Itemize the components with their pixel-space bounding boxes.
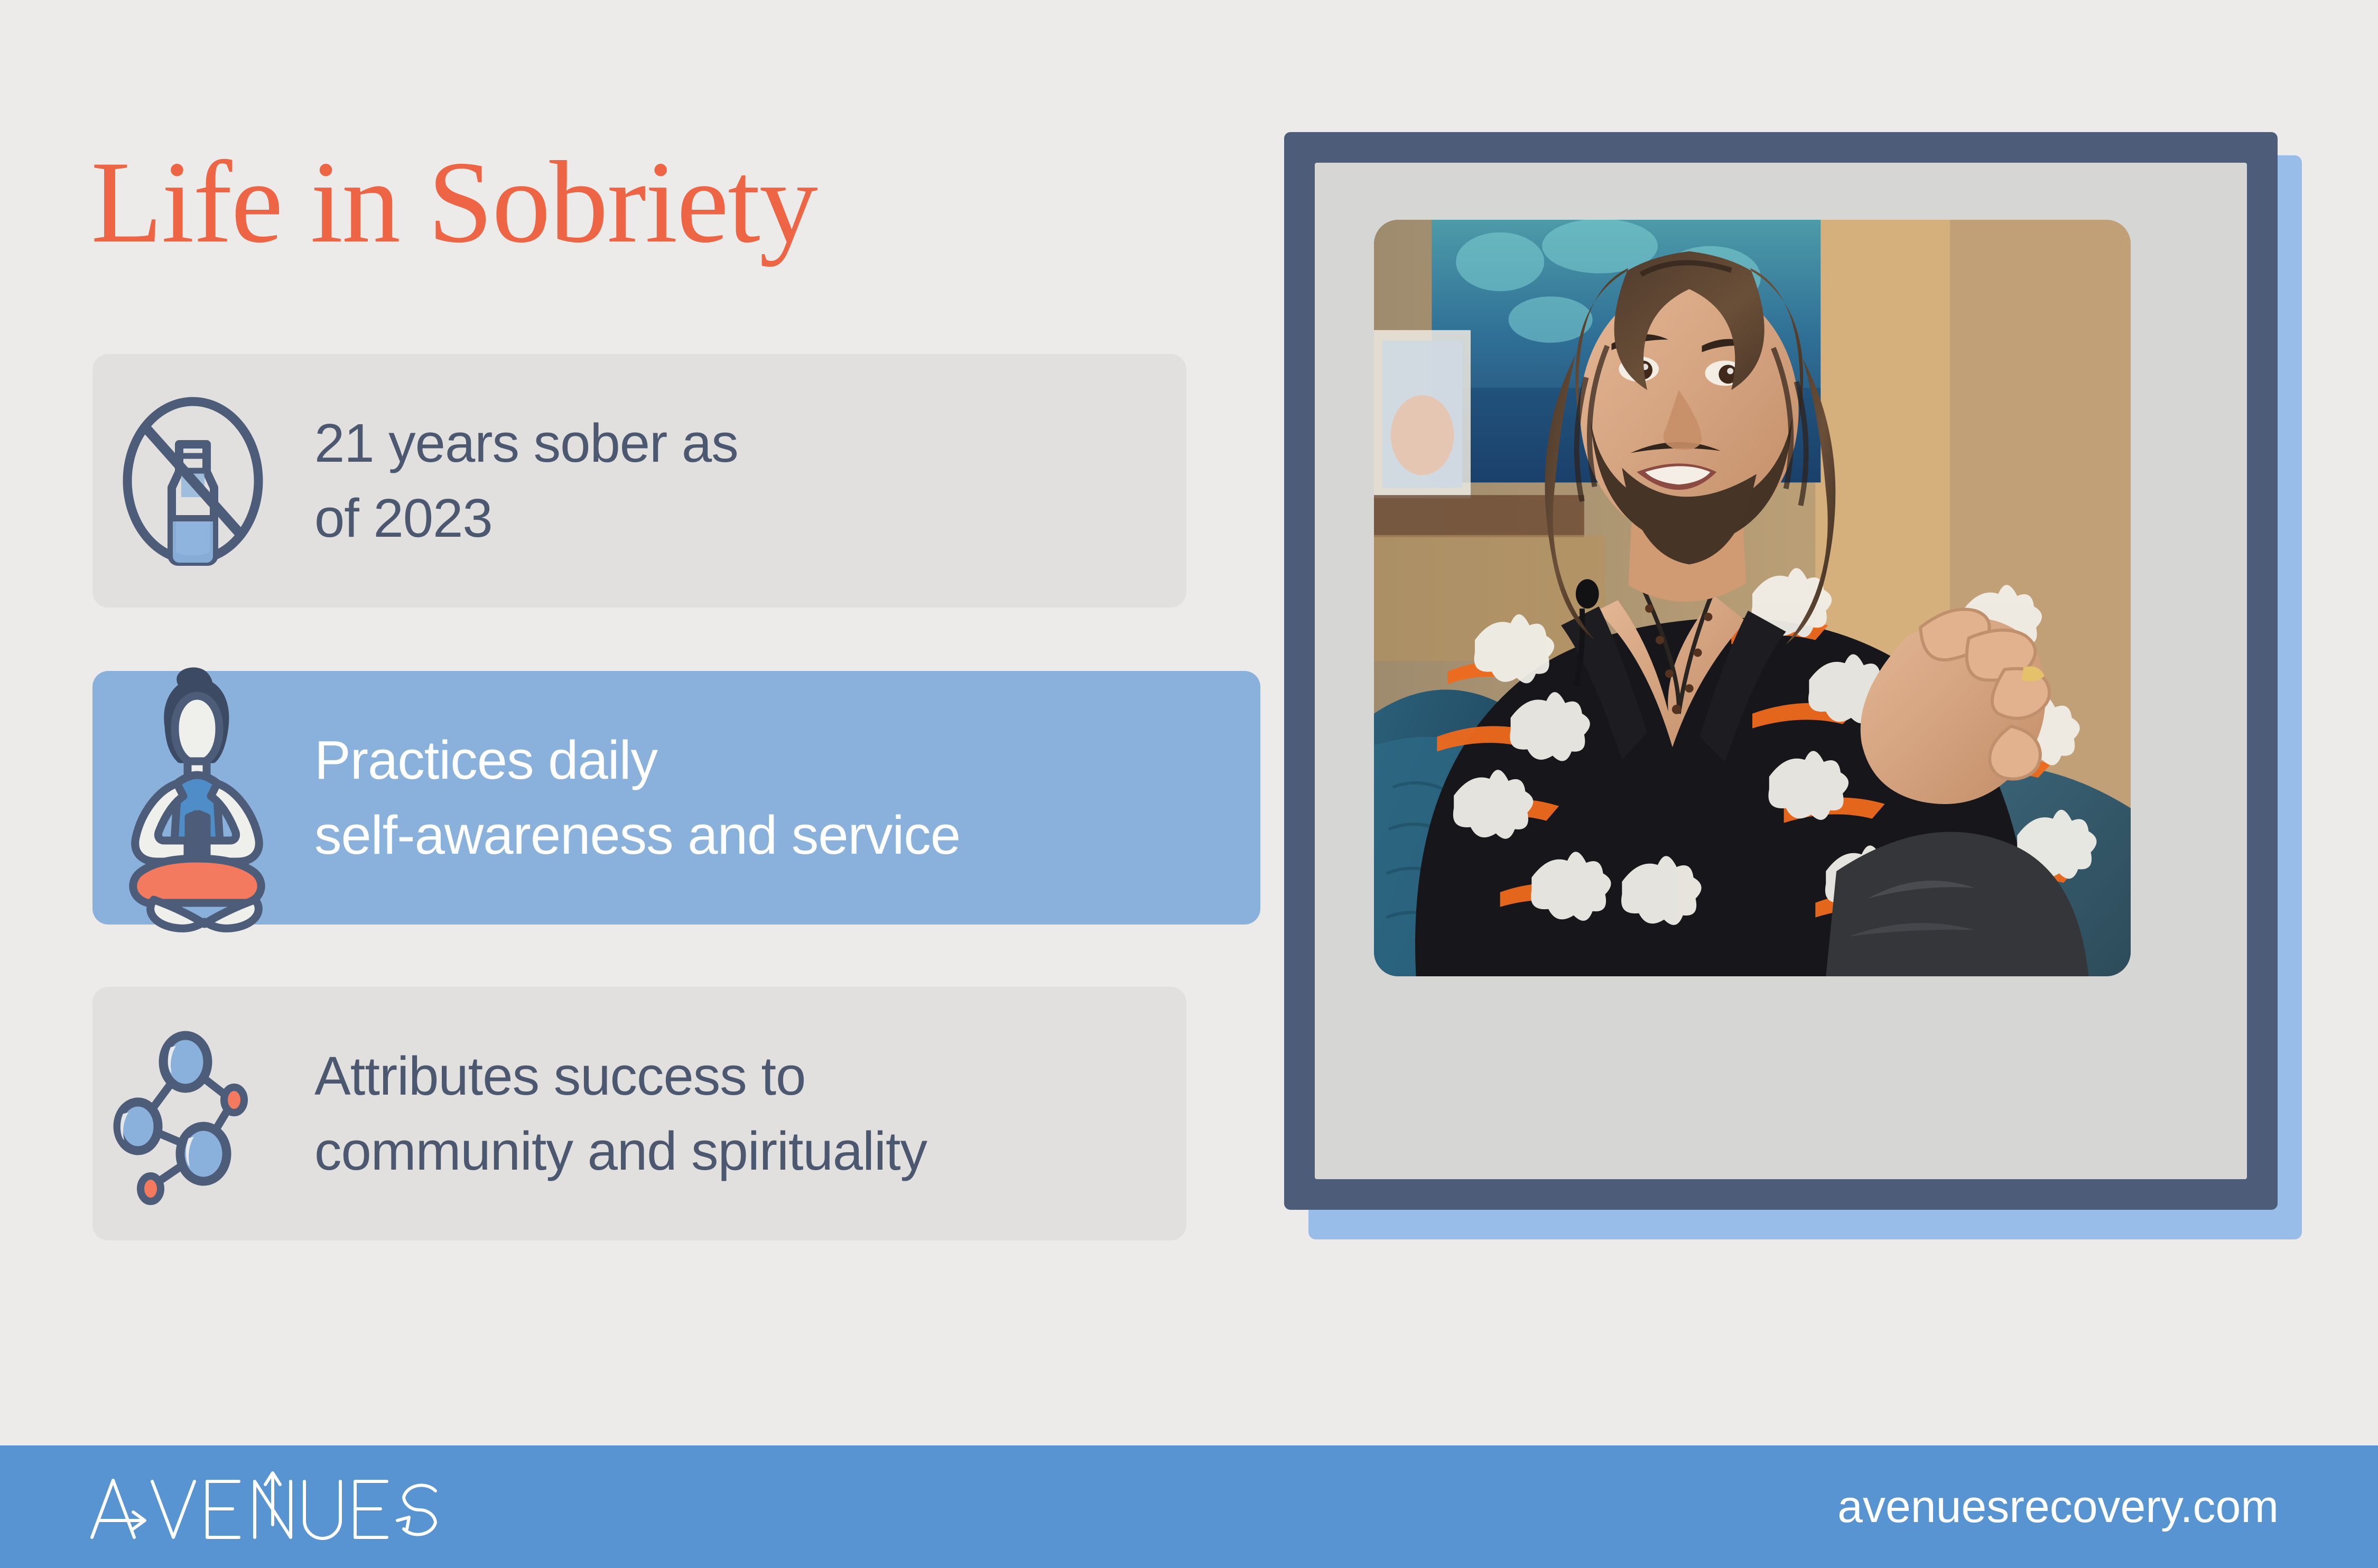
fact-card-text: Practices daily self-awareness and servi… [314, 723, 960, 873]
fact-card-sober-years[interactable]: 21 years sober as of 2023 [92, 354, 1186, 608]
portrait-photo [1374, 220, 2131, 976]
photo-frame [1284, 132, 2299, 1236]
website-url[interactable]: avenuesrecovery.com [1837, 1481, 2279, 1533]
no-alcohol-icon [92, 354, 293, 608]
brand-logo[interactable] [80, 1470, 503, 1544]
footer-bar: avenuesrecovery.com [0, 1445, 2378, 1568]
fact-card-attributes-success[interactable]: Attributes success to community and spir… [92, 987, 1186, 1240]
page-title: Life in Sobriety [91, 144, 817, 261]
network-icon [92, 987, 293, 1240]
fact-card-text: 21 years sober as of 2023 [314, 406, 738, 556]
frame-border [1284, 132, 2278, 1210]
fact-card-daily-practice[interactable]: Practices daily self-awareness and servi… [92, 671, 1260, 925]
frame-mat [1315, 163, 2247, 1179]
facts-list: 21 years sober as of 2023 [0, 354, 1268, 1240]
fact-card-text: Attributes success to community and spir… [314, 1039, 927, 1189]
meditation-icon [92, 671, 293, 925]
